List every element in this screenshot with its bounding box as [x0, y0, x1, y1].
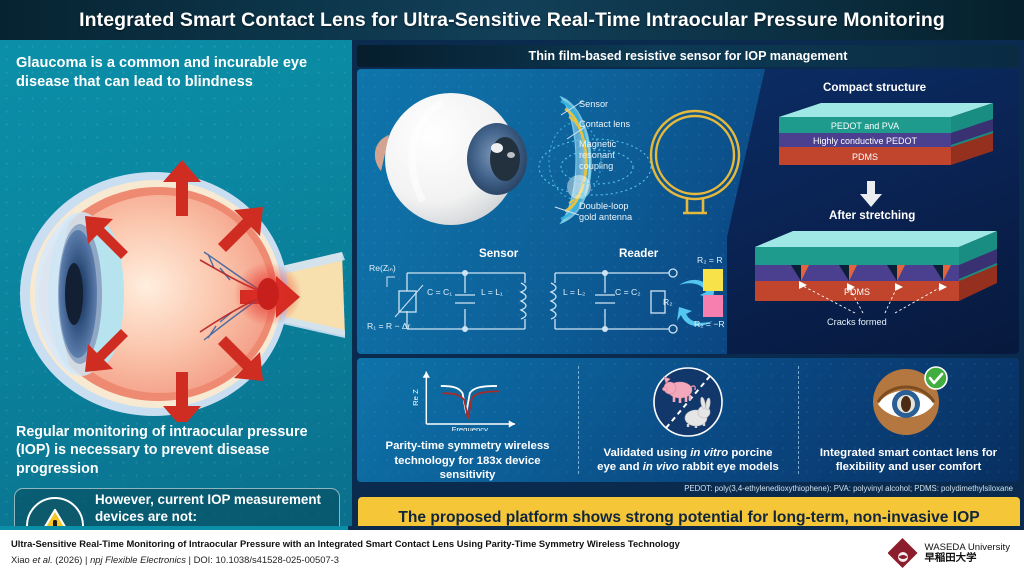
cracks-formed-label: Cracks formed	[827, 317, 887, 327]
circuit-reader-c-label: C = C₂	[615, 287, 641, 297]
feature-1: Re Z Frequency Parity-time symmetry wire…	[357, 358, 578, 482]
compact-structure-diagram: PEDOT and PVA Highly conductive PEDOT PD…	[755, 101, 1005, 181]
page-title: Integrated Smart Contact Lens for Ultra-…	[79, 9, 945, 32]
circuit-sensor-c-label: C = C₁	[427, 287, 452, 297]
callout-magnetic-resonant-coupling: Magneticresonantcoupling	[579, 139, 657, 172]
callout-sensor: Sensor	[579, 99, 608, 110]
waseda-logo-en: WASEDA University	[925, 542, 1010, 553]
feature-2: Validated using in vitro porcineeye and …	[578, 358, 798, 482]
right-panel: Thin film-based resistive sensor for IOP…	[352, 40, 1024, 530]
limitations-heading: However, current IOP measurement devices…	[95, 492, 339, 525]
circuit-r2-positive-label: R₂ = R	[697, 255, 723, 265]
svg-text:PEDOT and PVA: PEDOT and PVA	[831, 121, 899, 131]
waseda-logo: WASEDA University 早稲田大学	[888, 538, 1010, 568]
callout-contact-lens: Contact lens	[579, 119, 630, 130]
eyeball-lens-antenna-illustration	[365, 75, 755, 245]
page-title-bar: Integrated Smart Contact Lens for Ultra-…	[0, 0, 1024, 40]
circuit-r2-label: R₂	[663, 297, 673, 307]
stretched-structure-diagram: PDMS	[735, 229, 1011, 319]
citation: Xiao et al. (2026) | npj Flexible Electr…	[11, 554, 339, 565]
svg-text:Re Z: Re Z	[411, 389, 420, 406]
circuit-r1-label: R₁ = R − Δr	[367, 321, 411, 331]
eye-anatomy-illustration	[4, 160, 348, 422]
svg-text:Frequency: Frequency	[451, 425, 487, 431]
paper-title: Ultra-Sensitive Real-Time Monitoring of …	[11, 538, 680, 549]
swatch-loss	[703, 295, 723, 317]
glaucoma-lead-text: Glaucoma is a common and incurable eye d…	[16, 54, 336, 91]
circuit-r2-negative-label: R₂ = −R	[694, 319, 725, 329]
eye-checkmark-icon	[870, 366, 948, 438]
sensor-panel-header: Thin film-based resistive sensor for IOP…	[357, 45, 1019, 67]
abbreviations-footnote: PEDOT: poly(3,4-ethylenedioxythiophene);…	[357, 484, 1019, 493]
resonance-peak-chart-icon: Re Z Frequency	[404, 366, 532, 431]
iop-monitoring-text: Regular monitoring of intraocular pressu…	[16, 423, 342, 478]
feature-3-caption: Integrated smart contact lens for flexib…	[805, 446, 1013, 475]
waseda-logo-jp: 早稲田大学	[925, 553, 1010, 565]
circuit-reader-l-label: L = L₂	[563, 287, 585, 297]
sensor-panel: Sensor Contact lens Magneticresonantcoup…	[357, 69, 1019, 354]
circuit-re-z-label: Re(Zᵢₙ)	[369, 263, 396, 274]
left-panel: Glaucoma is a common and incurable eye d…	[0, 40, 352, 530]
svg-text:PDMS: PDMS	[852, 152, 878, 162]
feature-2-caption: Validated using in vitro porcineeye and …	[584, 446, 792, 475]
feature-3: Integrated smart contact lens for flexib…	[798, 358, 1019, 482]
footer: Ultra-Sensitive Real-Time Monitoring of …	[0, 530, 1024, 576]
circuit-sensor-l-label: L = L₁	[481, 287, 503, 297]
limitations-box: However, current IOP measurement devices…	[14, 488, 340, 530]
features-panel: Re Z Frequency Parity-time symmetry wire…	[357, 358, 1019, 482]
pig-rabbit-icon	[652, 366, 724, 438]
sensor-panel-header-label: Thin film-based resistive sensor for IOP…	[529, 49, 848, 63]
infographic-page: Integrated Smart Contact Lens for Ultra-…	[0, 0, 1024, 576]
callout-double-loop-gold-antenna: Double-loopgold antenna	[579, 201, 663, 223]
waseda-logo-mark	[888, 538, 918, 568]
circuit-diagram	[365, 257, 695, 349]
svg-text:Highly conductive PEDOT: Highly conductive PEDOT	[813, 136, 918, 146]
feature-1-caption: Parity-time symmetry wireless technology…	[365, 439, 570, 482]
compact-structure-title: Compact structure	[823, 81, 926, 94]
after-stretching-title: After stretching	[829, 209, 915, 222]
down-arrow-icon	[859, 181, 883, 207]
swatch-gain	[703, 269, 723, 291]
